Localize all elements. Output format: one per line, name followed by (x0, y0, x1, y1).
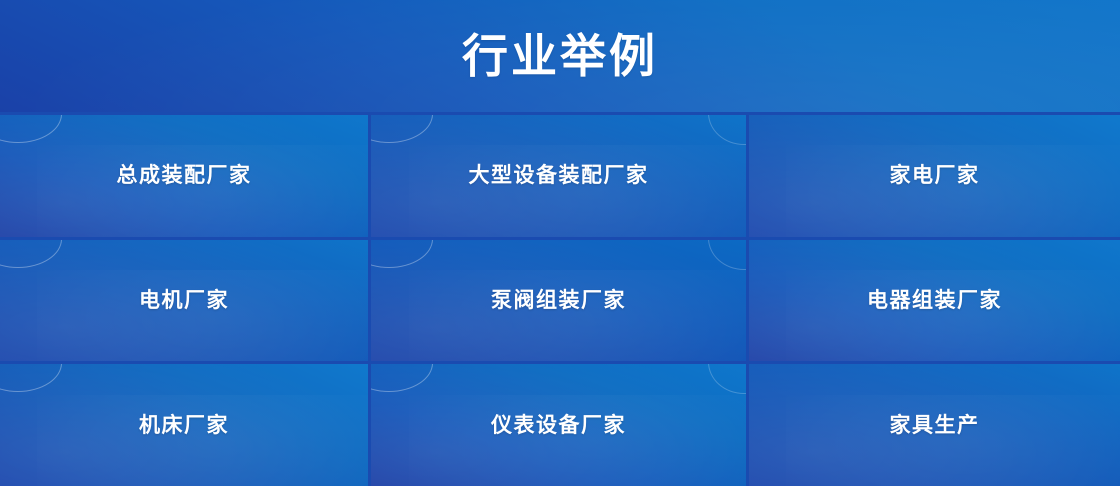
industry-card-7[interactable]: 机床厂家 (0, 364, 368, 486)
industry-card-9-label: 家具生产 (890, 415, 980, 436)
card-corner-arc-secondary-decoration (708, 364, 746, 394)
industry-card-4-label: 电机厂家 (139, 290, 229, 311)
industry-card-2-label: 大型设备装配厂家 (469, 165, 649, 186)
page-title: 行业举例 (462, 33, 658, 79)
card-corner-arc-secondary-decoration (708, 240, 746, 270)
card-sheen-secondary-decoration (786, 395, 1120, 486)
card-corner-arc-decoration (0, 364, 62, 392)
industry-card-8[interactable]: 仪表设备厂家 (371, 364, 746, 486)
card-corner-arc-decoration (371, 364, 433, 392)
card-corner-arc-decoration (0, 115, 62, 143)
card-sheen-secondary-decoration (409, 395, 747, 486)
card-sheen-secondary-decoration (786, 270, 1120, 361)
card-sheen-secondary-decoration (37, 145, 368, 236)
industry-card-2[interactable]: 大型设备装配厂家 (371, 115, 746, 237)
industry-card-5[interactable]: 泵阀组装厂家 (371, 240, 746, 362)
industry-examples-board: 行业举例 总成装配厂家 大型设备装配厂家 家电厂家 电机厂家 (0, 0, 1120, 486)
card-sheen-secondary-decoration (786, 145, 1120, 236)
industry-card-9[interactable]: 家具生产 (749, 364, 1120, 486)
page-title-banner: 行业举例 (0, 0, 1120, 112)
industry-card-8-label: 仪表设备厂家 (491, 415, 626, 436)
industry-card-5-label: 泵阀组装厂家 (491, 290, 626, 311)
card-corner-arc-secondary-decoration (708, 115, 746, 145)
card-corner-arc-decoration (0, 240, 62, 268)
card-corner-arc-decoration (371, 240, 433, 268)
industry-card-1-label: 总成装配厂家 (117, 165, 252, 186)
card-sheen-secondary-decoration (409, 270, 747, 361)
card-sheen-secondary-decoration (37, 270, 368, 361)
industry-card-1[interactable]: 总成装配厂家 (0, 115, 368, 237)
card-sheen-secondary-decoration (37, 395, 368, 486)
industry-card-7-label: 机床厂家 (139, 415, 229, 436)
card-sheen-secondary-decoration (409, 145, 747, 236)
industry-card-3[interactable]: 家电厂家 (749, 115, 1120, 237)
industry-card-6-label: 电器组装厂家 (867, 290, 1002, 311)
industry-card-6[interactable]: 电器组装厂家 (749, 240, 1120, 362)
industry-card-3-label: 家电厂家 (890, 165, 980, 186)
industry-card-4[interactable]: 电机厂家 (0, 240, 368, 362)
card-corner-arc-decoration (371, 115, 433, 143)
industry-grid: 总成装配厂家 大型设备装配厂家 家电厂家 电机厂家 泵阀组装厂家 (0, 115, 1120, 486)
